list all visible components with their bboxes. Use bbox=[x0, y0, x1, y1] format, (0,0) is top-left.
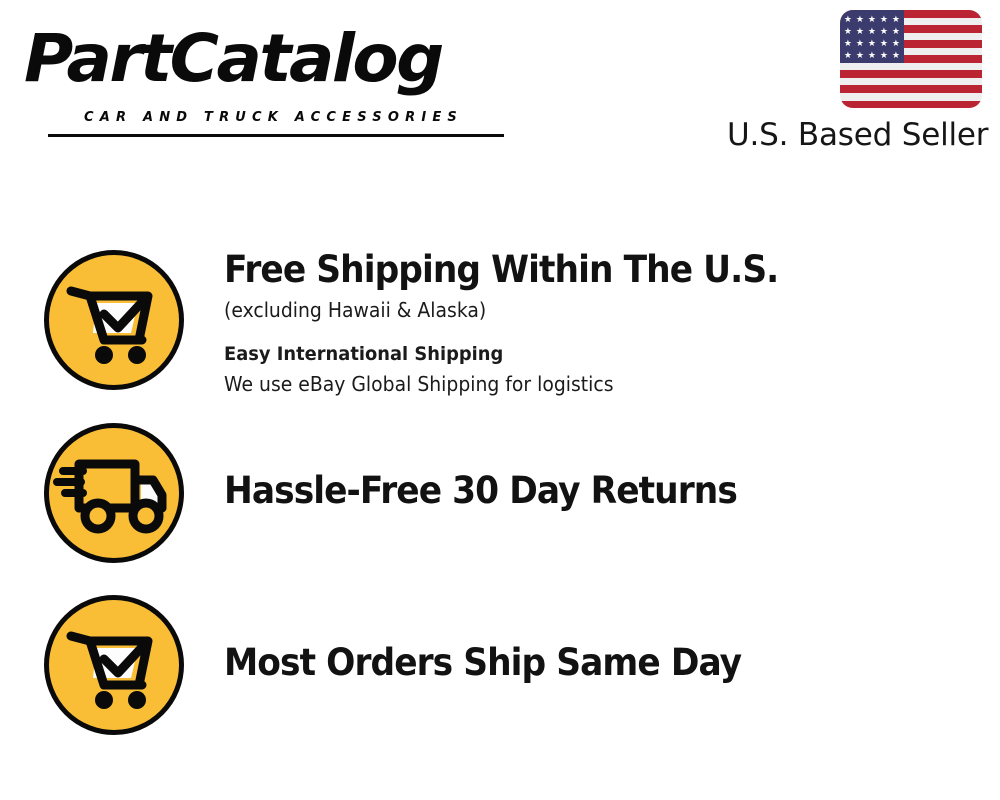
flag-stripe bbox=[840, 70, 982, 78]
feature-subtitle: Easy International Shipping bbox=[224, 339, 920, 369]
feature-title: Hassle-Free 30 Day Returns bbox=[224, 469, 912, 513]
brand-logo[interactable]: PartCatalog CAR AND TRUCK ACCESSORIES bbox=[24, 22, 494, 118]
shopping-cart-check-icon bbox=[44, 250, 184, 390]
brand-wordmark: PartCatalog bbox=[24, 22, 442, 96]
brand-tagline: CAR AND TRUCK ACCESSORIES bbox=[84, 110, 463, 125]
flag-stripe bbox=[840, 85, 982, 93]
us-based-seller-label: U.S. Based Seller bbox=[727, 116, 985, 154]
feature-row-returns: Hassle-Free 30 Day Returns bbox=[0, 421, 1000, 573]
feature-row-same-day-ship: Most Orders Ship Same Day bbox=[0, 593, 1000, 745]
flag-stripe bbox=[840, 101, 982, 109]
feature-note: (excluding Hawaii & Alaska) bbox=[224, 295, 920, 325]
page-header: PartCatalog CAR AND TRUCK ACCESSORIES ★★… bbox=[0, 0, 1000, 170]
feature-title: Free Shipping Within The U.S. bbox=[224, 248, 912, 292]
shopping-cart-check-icon bbox=[44, 595, 184, 735]
feature-text-block: Free Shipping Within The U.S. (excluding… bbox=[224, 248, 964, 399]
flag-star-row: ★★★★★ bbox=[840, 50, 904, 61]
delivery-truck-icon bbox=[44, 423, 184, 563]
feature-subdetail: We use eBay Global Shipping for logistic… bbox=[224, 369, 920, 399]
us-flag-icon: ★★★★★ ★★★★★ ★★★★★ ★★★★★ bbox=[840, 10, 982, 108]
brand-underline-rule bbox=[48, 134, 504, 137]
feature-row-free-shipping: Free Shipping Within The U.S. (excluding… bbox=[0, 248, 1000, 400]
flag-star-row: ★★★★★ bbox=[840, 26, 904, 37]
feature-text-block: Hassle-Free 30 Day Returns bbox=[224, 421, 964, 513]
flag-star-row: ★★★★★ bbox=[840, 14, 904, 25]
feature-title: Most Orders Ship Same Day bbox=[224, 641, 912, 685]
flag-star-row: ★★★★★ bbox=[840, 38, 904, 49]
feature-text-block: Most Orders Ship Same Day bbox=[224, 593, 964, 685]
